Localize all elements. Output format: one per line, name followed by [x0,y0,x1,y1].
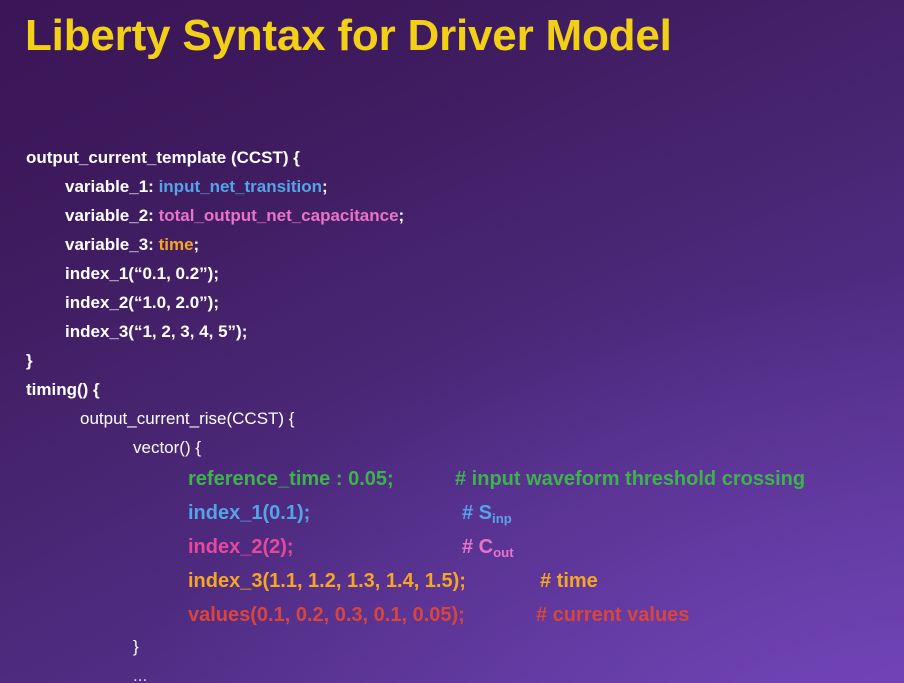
reference-time-code: reference_time : 0.05; [188,462,394,496]
variable-3-row: variable_3: time; [65,230,199,259]
code-line-vector-close: } [0,632,904,661]
vector-values-comment: # current values [536,598,689,632]
variable-2-row: variable_2: total_output_net_capacitance… [65,201,404,230]
variable-3-terminator: ; [194,235,200,254]
vector-index-2-comment-prefix: # C [462,536,493,558]
ellipsis-text: ... [133,661,147,683]
code-line-variable-3: variable_3: time; [0,230,904,259]
vector-index-1-comment-subscript: inp [492,511,512,526]
index-2-text: index_2(“1.0, 2.0”); [65,288,219,317]
code-line-variable-1: variable_1: input_net_transition; [0,172,904,201]
code-line-reference-time: reference_time : 0.05; # input waveform … [0,462,904,496]
code-line-vector-index-3: index_3(1.1, 1.2, 1.3, 1.4, 1.5); # time [0,564,904,598]
template-header-text: output_current_template (CCST) { [26,143,300,172]
code-line-vector-header: vector() { [0,433,904,462]
variable-2-value: total_output_net_capacitance [159,206,399,225]
variable-1-row: variable_1: input_net_transition; [65,172,328,201]
vector-index-2-code: index_2(2); [188,530,294,564]
variable-3-label: variable_3: [65,235,154,254]
variable-2-terminator: ; [399,206,405,225]
code-line-vector-index-2: index_2(2); # Cout [0,530,904,564]
vector-index-3-comment: # time [540,564,598,598]
rise-header-text: output_current_rise(CCST) { [80,404,294,433]
vector-index-3-code: index_3(1.1, 1.2, 1.3, 1.4, 1.5); [188,564,466,598]
code-line-variable-2: variable_2: total_output_net_capacitance… [0,201,904,230]
variable-1-value: input_net_transition [159,177,322,196]
variable-3-value: time [159,235,194,254]
slide-canvas: Liberty Syntax for Driver Model output_c… [0,0,904,683]
vector-values-code: values(0.1, 0.2, 0.3, 0.1, 0.05); [188,598,465,632]
vector-header-text: vector() { [133,433,201,462]
code-line-vector-index-1: index_1(0.1); # Sinp [0,496,904,530]
code-line-timing-header: timing() { [0,375,904,404]
vector-index-1-comment: # Sinp [462,496,512,532]
code-line-index-1: index_1(“0.1, 0.2”); [0,259,904,288]
vector-index-1-code: index_1(0.1); [188,496,310,530]
variable-1-label: variable_1: [65,177,154,196]
code-line-index-3: index_3(“1, 2, 3, 4, 5”); [0,317,904,346]
vector-index-2-comment: # Cout [462,530,514,566]
variable-1-terminator: ; [322,177,328,196]
timing-header-text: timing() { [26,375,100,404]
variable-2-label: variable_2: [65,206,154,225]
code-line-template-header: output_current_template (CCST) { [0,143,904,172]
code-line-index-2: index_2(“1.0, 2.0”); [0,288,904,317]
code-line-ellipsis: ... [0,661,904,683]
vector-close-brace: } [133,632,139,661]
template-close-brace: } [26,346,33,375]
page-title: Liberty Syntax for Driver Model [25,8,875,64]
vector-index-2-comment-subscript: out [493,545,514,560]
reference-time-comment: # input waveform threshold crossing [455,462,805,496]
index-1-text: index_1(“0.1, 0.2”); [65,259,219,288]
index-3-text: index_3(“1, 2, 3, 4, 5”); [65,317,247,346]
vector-index-1-comment-prefix: # S [462,502,492,524]
code-line-template-close: } [0,346,904,375]
code-block: output_current_template (CCST) { variabl… [0,143,904,683]
code-line-vector-values: values(0.1, 0.2, 0.3, 0.1, 0.05); # curr… [0,598,904,632]
code-line-rise-header: output_current_rise(CCST) { [0,404,904,433]
